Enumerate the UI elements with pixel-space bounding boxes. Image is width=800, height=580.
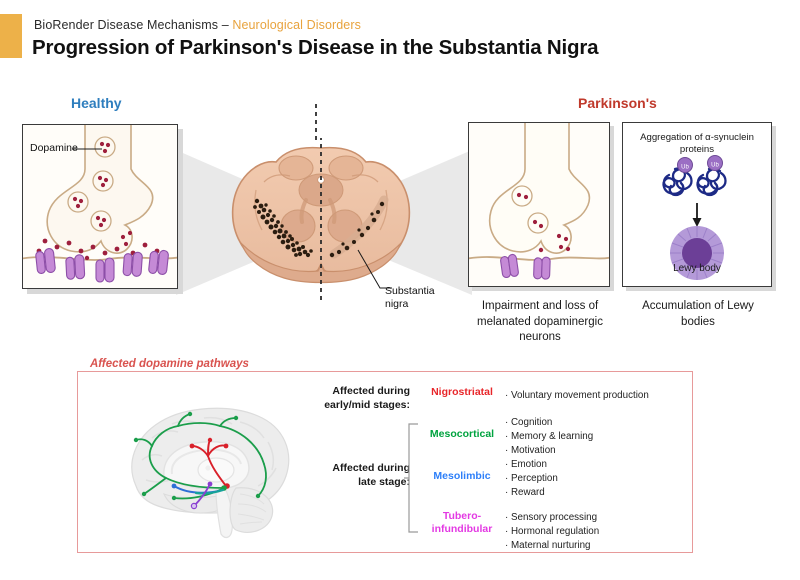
stage-late-line2: late stage: xyxy=(320,476,410,490)
stage-label-late: Affected during late stage: xyxy=(320,462,410,489)
functions-nigrostriatal: Voluntary movement production xyxy=(505,389,649,403)
function-item: Perception xyxy=(505,472,558,486)
function-item: Hormonal regulation xyxy=(505,525,599,539)
ub-tag-2-label: Ub xyxy=(711,162,719,168)
pathway-name-mesocortical: Mesocortical xyxy=(425,428,499,441)
substantia-nigra-callout: Substantia nigra xyxy=(385,285,435,311)
stage-label-early: Affected during early/mid stages: xyxy=(320,385,410,412)
functions-mesolimbic: Emotion Perception Reward xyxy=(505,458,558,500)
function-item: Maternal nurturing xyxy=(505,539,599,553)
tuberoinfundibular-line2: infundibular xyxy=(425,523,499,536)
accent-bar xyxy=(0,14,22,58)
function-item: Voluntary movement production xyxy=(505,389,649,403)
function-item: Memory & learning xyxy=(505,430,593,444)
mesolimbic-terminal xyxy=(172,484,177,489)
page-title: Progression of Parkinson's Disease in th… xyxy=(32,36,598,60)
midline-divider xyxy=(313,104,319,144)
affected-pathways-header: Affected dopamine pathways xyxy=(86,358,253,370)
healthy-column-label: Healthy xyxy=(71,95,122,111)
kicker-prefix: BioRender Disease Mechanisms – xyxy=(34,18,232,32)
function-item: Motivation xyxy=(505,444,593,458)
stage-late-line1: Affected during xyxy=(320,462,410,476)
stage-early-line2: early/mid stages: xyxy=(320,399,410,413)
parkinsons-column-label: Parkinson's xyxy=(578,95,657,111)
parkinsons-synapse-panel xyxy=(468,122,610,287)
illustration-canvas: BioRender Disease Mechanisms – Neurologi… xyxy=(0,0,800,580)
pathway-name-tuberoinfundibular: Tubero- infundibular xyxy=(425,510,499,536)
dopamine-callout: Dopamine xyxy=(30,142,78,155)
pathway-name-nigrostriatal: Nigrostriatal xyxy=(425,386,499,399)
late-stage-bracket xyxy=(404,423,422,533)
lewy-body-label: Lewy body xyxy=(623,263,771,274)
kicker-highlight: Neurological Disorders xyxy=(232,18,361,32)
function-item: Reward xyxy=(505,486,558,500)
sagittal-brain-pathways-figure xyxy=(108,398,308,543)
stage-early-line1: Affected during xyxy=(320,385,410,399)
function-item: Sensory processing xyxy=(505,511,599,525)
lewy-body-panel: Ub Ub xyxy=(622,122,772,287)
sn-callout-line2: nigra xyxy=(385,298,435,311)
kicker-line: BioRender Disease Mechanisms – Neurologi… xyxy=(34,18,361,32)
functions-mesocortical: Cognition Memory & learning Motivation xyxy=(505,416,593,458)
tuberoinfundibular-line1: Tubero- xyxy=(425,510,499,523)
sn-callout-line1: Substantia xyxy=(385,285,435,298)
pd-panel-caption: Impairment and loss of melanated dopamin… xyxy=(466,299,614,346)
alpha-synuclein-label: Aggregation of α-synuclein proteins xyxy=(623,132,771,157)
functions-tuberoinfundibular: Sensory processing Hormonal regulation M… xyxy=(505,511,599,553)
ub-tag-1-label: Ub xyxy=(681,164,689,170)
pathway-name-mesolimbic: Mesolimbic xyxy=(425,470,499,483)
lewy-panel-caption: Accumulation of Lewy bodies xyxy=(624,299,772,330)
function-item: Emotion xyxy=(505,458,558,472)
pituitary-terminal xyxy=(191,503,196,508)
function-item: Cognition xyxy=(505,416,593,430)
